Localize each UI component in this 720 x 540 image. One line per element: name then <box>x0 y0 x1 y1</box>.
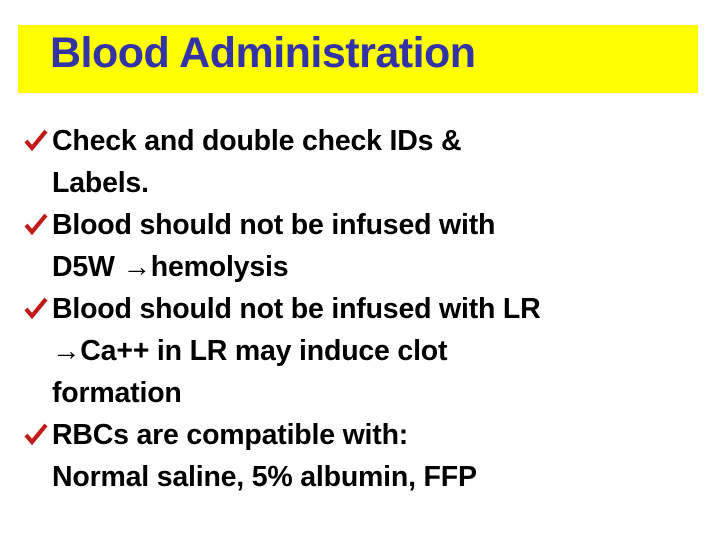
bullet-continuation-line: Normal saline, 5% albumin, FFP <box>22 456 720 498</box>
bullet-list: Check and double check IDs & Labels. Blo… <box>0 120 720 498</box>
red-check-icon <box>22 204 52 246</box>
bullet-first-line: Blood should not be infused with <box>22 204 720 246</box>
bullet-first-line: RBCs are compatible with: <box>22 414 720 456</box>
bullet-continuation-line: →Ca++ in LR may induce clot <box>22 330 720 372</box>
bullet-first-line: Check and double check IDs & <box>22 120 720 162</box>
bullet-continuation-line: Labels. <box>22 162 720 204</box>
red-check-icon <box>22 414 52 456</box>
bullet-continuation-line: D5W →hemolysis <box>22 246 720 288</box>
bullet-text: Blood should not be infused with <box>52 204 495 246</box>
red-check-icon <box>22 288 52 330</box>
page-title: Blood Administration <box>50 27 710 79</box>
list-item: RBCs are compatible with: Normal saline,… <box>0 414 720 498</box>
list-item: Check and double check IDs & Labels. <box>0 120 720 204</box>
bullet-continuation-line: formation <box>22 372 720 414</box>
bullet-text: Check and double check IDs & <box>52 120 461 162</box>
bullet-text: RBCs are compatible with: <box>52 414 408 456</box>
bullet-text: Blood should not be infused with LR <box>52 288 541 330</box>
list-item: Blood should not be infused with LR →Ca+… <box>0 288 720 414</box>
list-item: Blood should not be infused with D5W →he… <box>0 204 720 288</box>
red-check-icon <box>22 120 52 162</box>
bullet-first-line: Blood should not be infused with LR <box>22 288 720 330</box>
slide-canvas: Blood Administration Check and double ch… <box>0 0 720 540</box>
